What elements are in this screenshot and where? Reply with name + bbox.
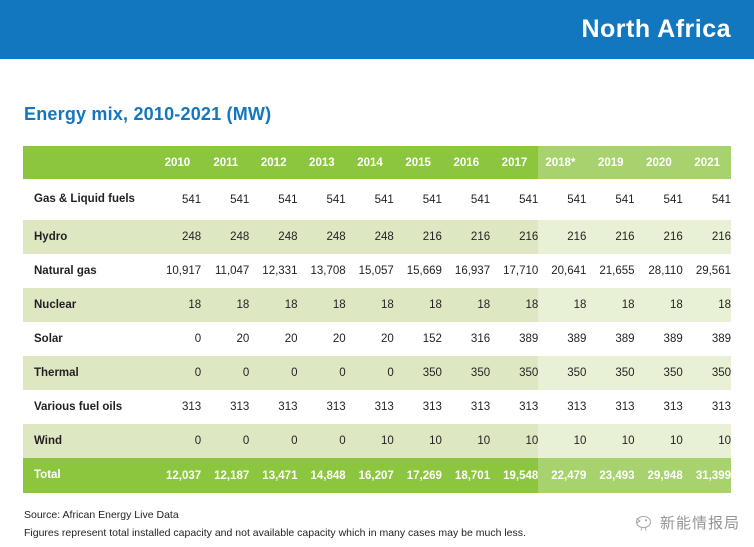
footnote-text: Figures represent total installed capaci… (24, 524, 584, 542)
table-row: Nuclear 18 18 18 18 18 18 18 18 18 18 18… (23, 288, 731, 322)
cell-hydro-2011: 248 (201, 220, 249, 254)
cell-various-fuel-oils-2010: 313 (153, 390, 201, 424)
cell-nuclear-2019: 18 (586, 288, 634, 322)
cell-total-2021: 31,399 (683, 458, 731, 493)
cell-solar-2018: 389 (538, 322, 586, 356)
cell-hydro-2021: 216 (683, 220, 731, 254)
row-label-nuclear: Nuclear (23, 288, 153, 322)
row-label-total: Total (23, 458, 153, 493)
cell-nuclear-2020: 18 (635, 288, 683, 322)
cell-thermal-2017: 350 (490, 356, 538, 390)
cell-hydro-2013: 248 (297, 220, 345, 254)
cell-various-fuel-oils-2018: 313 (538, 390, 586, 424)
cell-wind-2018: 10 (538, 424, 586, 458)
cell-solar-2017: 389 (490, 322, 538, 356)
cell-various-fuel-oils-2017: 313 (490, 390, 538, 424)
cell-thermal-2019: 350 (586, 356, 634, 390)
cell-wind-2019: 10 (586, 424, 634, 458)
cell-total-2020: 29,948 (635, 458, 683, 493)
column-header-2018: 2018* (538, 146, 586, 179)
cell-hydro-2012: 248 (249, 220, 297, 254)
cell-total-2013: 14,848 (297, 458, 345, 493)
cell-gas-liquid-fuels-2020: 541 (635, 179, 683, 220)
cell-hydro-2010: 248 (153, 220, 201, 254)
cell-natural-gas-2018: 20,641 (538, 254, 586, 288)
column-header-2020: 2020 (635, 146, 683, 179)
cell-natural-gas-2010: 10,917 (153, 254, 201, 288)
banner-title: North Africa (581, 14, 731, 44)
cell-thermal-2016: 350 (442, 356, 490, 390)
cell-wind-2010: 0 (153, 424, 201, 458)
cell-natural-gas-2011: 11,047 (201, 254, 249, 288)
cell-gas-liquid-fuels-2018: 541 (538, 179, 586, 220)
column-header-2014: 2014 (346, 146, 394, 179)
cell-various-fuel-oils-2015: 313 (394, 390, 442, 424)
cell-natural-gas-2021: 29,561 (683, 254, 731, 288)
cell-nuclear-2015: 18 (394, 288, 442, 322)
watermark: 新能情报局 (631, 511, 740, 533)
cell-natural-gas-2015: 15,669 (394, 254, 442, 288)
cell-thermal-2012: 0 (249, 356, 297, 390)
cell-total-2017: 19,548 (490, 458, 538, 493)
cell-solar-2015: 152 (394, 322, 442, 356)
cell-nuclear-2011: 18 (201, 288, 249, 322)
column-header-2019: 2019 (586, 146, 634, 179)
cell-gas-liquid-fuels-2010: 541 (153, 179, 201, 220)
cell-gas-liquid-fuels-2013: 541 (297, 179, 345, 220)
cell-solar-2010: 0 (153, 322, 201, 356)
cell-solar-2020: 389 (635, 322, 683, 356)
footer: Source: African Energy Live Data Figures… (24, 506, 584, 542)
row-label-wind: Wind (23, 424, 153, 458)
watermark-text: 新能情报局 (660, 512, 740, 533)
cell-gas-liquid-fuels-2021: 541 (683, 179, 731, 220)
column-header-label (23, 146, 153, 179)
cell-various-fuel-oils-2016: 313 (442, 390, 490, 424)
table-row: Various fuel oils 313 313 313 313 313 31… (23, 390, 731, 424)
cell-various-fuel-oils-2013: 313 (297, 390, 345, 424)
cell-various-fuel-oils-2012: 313 (249, 390, 297, 424)
cell-wind-2020: 10 (635, 424, 683, 458)
energy-mix-table-wrapper: 2010 2011 2012 2013 2014 2015 2016 2017 … (23, 146, 731, 493)
cell-various-fuel-oils-2020: 313 (635, 390, 683, 424)
cell-hydro-2019: 216 (586, 220, 634, 254)
cell-wind-2017: 10 (490, 424, 538, 458)
column-header-2010: 2010 (153, 146, 201, 179)
cell-natural-gas-2016: 16,937 (442, 254, 490, 288)
cell-wind-2011: 0 (201, 424, 249, 458)
cell-wind-2012: 0 (249, 424, 297, 458)
column-header-2015: 2015 (394, 146, 442, 179)
cell-total-2019: 23,493 (586, 458, 634, 493)
table-header-row: 2010 2011 2012 2013 2014 2015 2016 2017 … (23, 146, 731, 179)
cell-nuclear-2021: 18 (683, 288, 731, 322)
cell-natural-gas-2012: 12,331 (249, 254, 297, 288)
cell-thermal-2014: 0 (346, 356, 394, 390)
cell-various-fuel-oils-2021: 313 (683, 390, 731, 424)
cell-thermal-2018: 350 (538, 356, 586, 390)
cell-nuclear-2017: 18 (490, 288, 538, 322)
table-row: Hydro 248 248 248 248 248 216 216 216 21… (23, 220, 731, 254)
page-banner: North Africa (0, 0, 754, 59)
column-header-2013: 2013 (297, 146, 345, 179)
cell-natural-gas-2014: 15,057 (346, 254, 394, 288)
cell-thermal-2013: 0 (297, 356, 345, 390)
cell-solar-2021: 389 (683, 322, 731, 356)
row-label-gas-liquid-fuels: Gas & Liquid fuels (23, 179, 153, 220)
cell-wind-2014: 10 (346, 424, 394, 458)
cell-thermal-2021: 350 (683, 356, 731, 390)
cell-gas-liquid-fuels-2014: 541 (346, 179, 394, 220)
cell-hydro-2016: 216 (442, 220, 490, 254)
table-row: Solar 0 20 20 20 20 152 316 389 389 389 … (23, 322, 731, 356)
table-row: Wind 0 0 0 0 10 10 10 10 10 10 10 10 (23, 424, 731, 458)
cell-various-fuel-oils-2019: 313 (586, 390, 634, 424)
cell-solar-2019: 389 (586, 322, 634, 356)
cell-hydro-2018: 216 (538, 220, 586, 254)
cell-solar-2016: 316 (442, 322, 490, 356)
cell-wind-2013: 0 (297, 424, 345, 458)
page-title: Energy mix, 2010-2021 (MW) (24, 104, 271, 125)
cell-total-2014: 16,207 (346, 458, 394, 493)
cell-nuclear-2012: 18 (249, 288, 297, 322)
row-label-natural-gas: Natural gas (23, 254, 153, 288)
bird-logo-icon (631, 511, 653, 533)
cell-total-2015: 17,269 (394, 458, 442, 493)
row-label-various-fuel-oils: Various fuel oils (23, 390, 153, 424)
table-body: Gas & Liquid fuels 541 541 541 541 541 5… (23, 179, 731, 493)
cell-total-2016: 18,701 (442, 458, 490, 493)
cell-thermal-2020: 350 (635, 356, 683, 390)
column-header-2012: 2012 (249, 146, 297, 179)
cell-natural-gas-2013: 13,708 (297, 254, 345, 288)
cell-total-2011: 12,187 (201, 458, 249, 493)
table-header: 2010 2011 2012 2013 2014 2015 2016 2017 … (23, 146, 731, 179)
cell-nuclear-2014: 18 (346, 288, 394, 322)
table-total-row: Total 12,037 12,187 13,471 14,848 16,207… (23, 458, 731, 493)
column-header-2016: 2016 (442, 146, 490, 179)
cell-nuclear-2016: 18 (442, 288, 490, 322)
cell-gas-liquid-fuels-2015: 541 (394, 179, 442, 220)
cell-solar-2011: 20 (201, 322, 249, 356)
cell-gas-liquid-fuels-2011: 541 (201, 179, 249, 220)
cell-gas-liquid-fuels-2016: 541 (442, 179, 490, 220)
cell-total-2012: 13,471 (249, 458, 297, 493)
cell-total-2010: 12,037 (153, 458, 201, 493)
cell-wind-2021: 10 (683, 424, 731, 458)
column-header-2017: 2017 (490, 146, 538, 179)
cell-hydro-2015: 216 (394, 220, 442, 254)
row-label-thermal: Thermal (23, 356, 153, 390)
cell-wind-2016: 10 (442, 424, 490, 458)
cell-various-fuel-oils-2014: 313 (346, 390, 394, 424)
energy-mix-table: 2010 2011 2012 2013 2014 2015 2016 2017 … (23, 146, 731, 493)
column-header-2011: 2011 (201, 146, 249, 179)
cell-total-2018: 22,479 (538, 458, 586, 493)
cell-hydro-2020: 216 (635, 220, 683, 254)
cell-natural-gas-2019: 21,655 (586, 254, 634, 288)
cell-natural-gas-2017: 17,710 (490, 254, 538, 288)
cell-natural-gas-2020: 28,110 (635, 254, 683, 288)
cell-gas-liquid-fuels-2012: 541 (249, 179, 297, 220)
cell-solar-2013: 20 (297, 322, 345, 356)
cell-wind-2015: 10 (394, 424, 442, 458)
cell-thermal-2015: 350 (394, 356, 442, 390)
table-row: Thermal 0 0 0 0 0 350 350 350 350 350 35… (23, 356, 731, 390)
source-text: Source: African Energy Live Data (24, 506, 584, 524)
cell-gas-liquid-fuels-2017: 541 (490, 179, 538, 220)
cell-solar-2014: 20 (346, 322, 394, 356)
cell-nuclear-2018: 18 (538, 288, 586, 322)
table-row: Gas & Liquid fuels 541 541 541 541 541 5… (23, 179, 731, 220)
row-label-hydro: Hydro (23, 220, 153, 254)
cell-thermal-2010: 0 (153, 356, 201, 390)
cell-hydro-2014: 248 (346, 220, 394, 254)
cell-solar-2012: 20 (249, 322, 297, 356)
cell-nuclear-2010: 18 (153, 288, 201, 322)
cell-various-fuel-oils-2011: 313 (201, 390, 249, 424)
table-row: Natural gas 10,917 11,047 12,331 13,708 … (23, 254, 731, 288)
column-header-2021: 2021 (683, 146, 731, 179)
row-label-solar: Solar (23, 322, 153, 356)
cell-nuclear-2013: 18 (297, 288, 345, 322)
cell-thermal-2011: 0 (201, 356, 249, 390)
cell-gas-liquid-fuels-2019: 541 (586, 179, 634, 220)
cell-hydro-2017: 216 (490, 220, 538, 254)
